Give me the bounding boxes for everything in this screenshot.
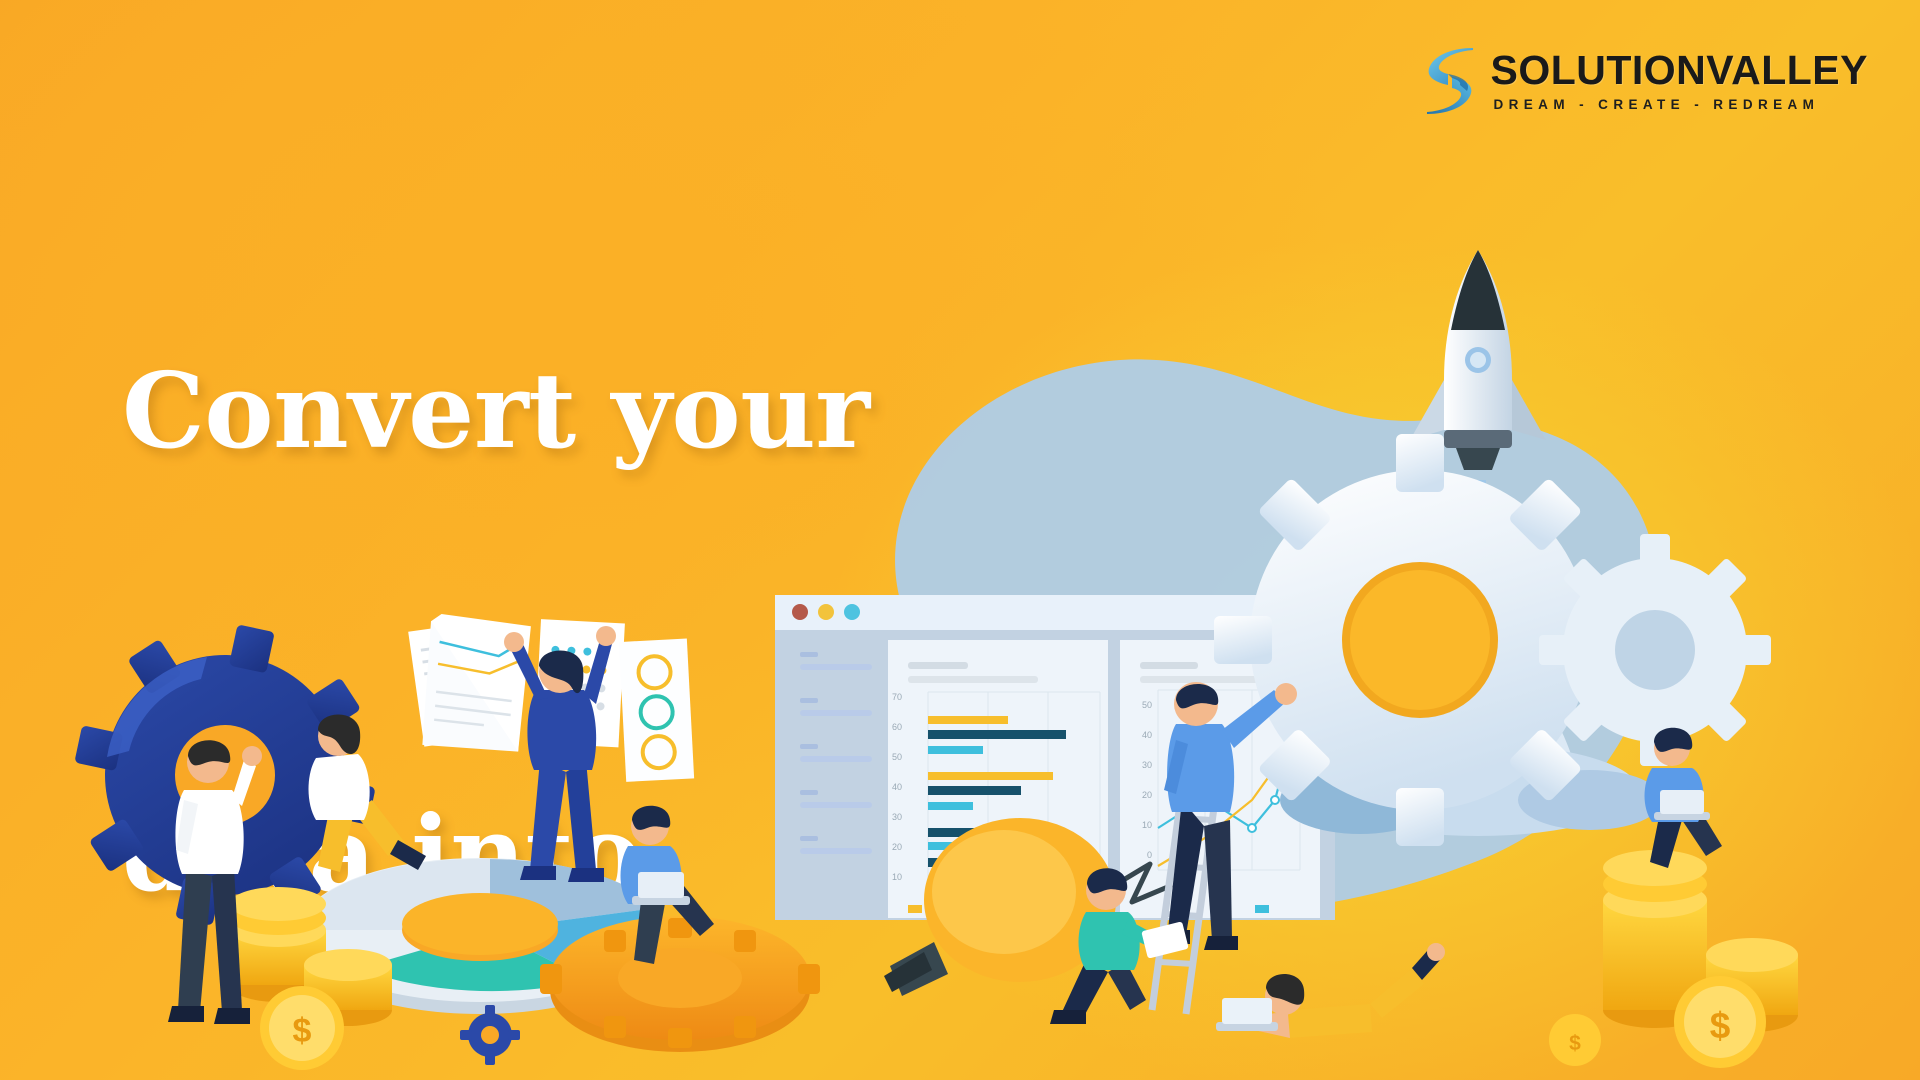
banner-canvas: Convert your data into Sales SOLUTIONVAL… — [0, 0, 1920, 1080]
svg-text:$: $ — [1569, 1032, 1581, 1055]
headline-line-1: Convert your — [122, 337, 1082, 485]
brand-logo[interactable]: SOLUTIONVALLEY DREAM - CREATE - REDREAM — [1424, 44, 1868, 118]
logo-company-name: SOLUTIONVALLEY — [1490, 50, 1868, 91]
logo-tagline: DREAM - CREATE - REDREAM — [1490, 98, 1868, 112]
page-title: Convert your data into Sales — [122, 42, 1082, 1080]
s-swoosh-logo-icon — [1424, 44, 1476, 118]
person-lying-laptop — [1216, 943, 1445, 1038]
coin-single-right: $ — [1549, 1014, 1601, 1066]
headline-line-2: data into — [122, 780, 1082, 928]
svg-text:$: $ — [1710, 1005, 1731, 1046]
coin-front-right: $ — [1674, 976, 1766, 1068]
